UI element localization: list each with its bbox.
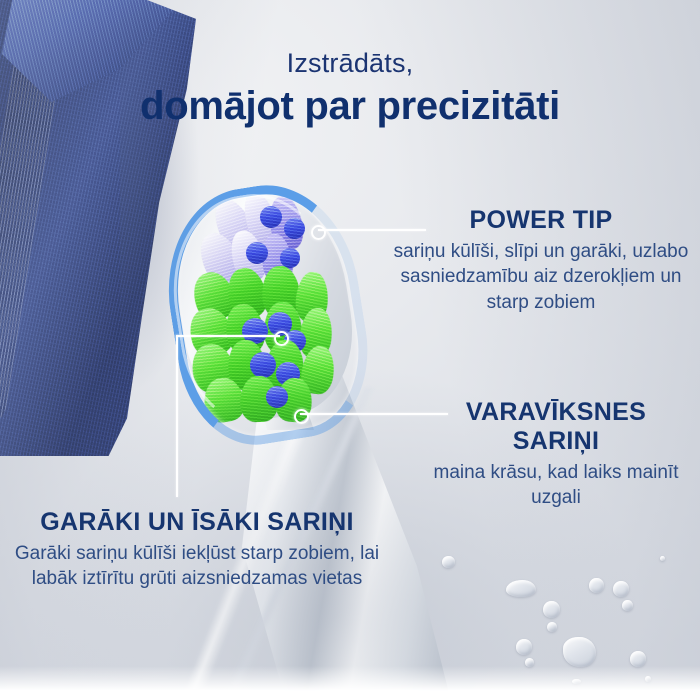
water-droplet <box>622 600 633 611</box>
water-droplet <box>547 622 557 632</box>
leader-dot-rainbow <box>294 409 309 424</box>
callout-body-rainbow-bristles: maina krāsu, kad laiks mainīt uzgali <box>420 460 692 511</box>
water-droplet <box>645 676 651 682</box>
water-droplet <box>660 556 665 561</box>
callout-body-long-short-bristles: Garāki sariņu kūlīši iekļūst starp zobie… <box>4 541 390 592</box>
callout-title-rainbow-bristles: VARAVĪKSNES SARIŅI <box>420 398 692 456</box>
callout-title-long-short-bristles: GARĀKI UN ĪSĀKI SARIŅI <box>4 508 390 537</box>
water-droplet <box>572 679 581 684</box>
leader-dot-power-tip <box>311 225 326 240</box>
callout-rainbow-bristles: VARAVĪKSNES SARIŅI maina krāsu, kad laik… <box>420 398 692 511</box>
water-droplet <box>613 581 629 597</box>
water-droplet <box>630 651 646 667</box>
water-droplet <box>442 556 455 568</box>
callout-title-power-tip: POWER TIP <box>388 206 694 235</box>
leader-line-long-short-horizontal <box>176 335 280 337</box>
leader-line-long-short-vertical <box>176 335 178 497</box>
eyebrow-text: Izstrādāts, <box>0 48 700 79</box>
water-droplet <box>589 578 604 593</box>
water-droplet <box>543 601 560 618</box>
product-feature-graphic: Izstrādāts, domājot par precizitāti POWE… <box>0 0 700 700</box>
water-droplet <box>516 639 532 655</box>
leader-dot-long-short <box>274 331 289 346</box>
callout-power-tip: POWER TIP sariņu kūlīši, slīpi un garāki… <box>388 206 694 315</box>
water-droplet <box>563 637 596 667</box>
callout-body-power-tip: sariņu kūlīši, slīpi un garāki, uzlabo s… <box>388 239 694 315</box>
water-droplet <box>525 658 534 667</box>
water-droplet <box>506 580 536 597</box>
callout-long-short-bristles: GARĀKI UN ĪSĀKI SARIŅI Garāki sariņu kūl… <box>4 508 390 592</box>
page-title: domājot par precizitāti <box>0 84 700 129</box>
